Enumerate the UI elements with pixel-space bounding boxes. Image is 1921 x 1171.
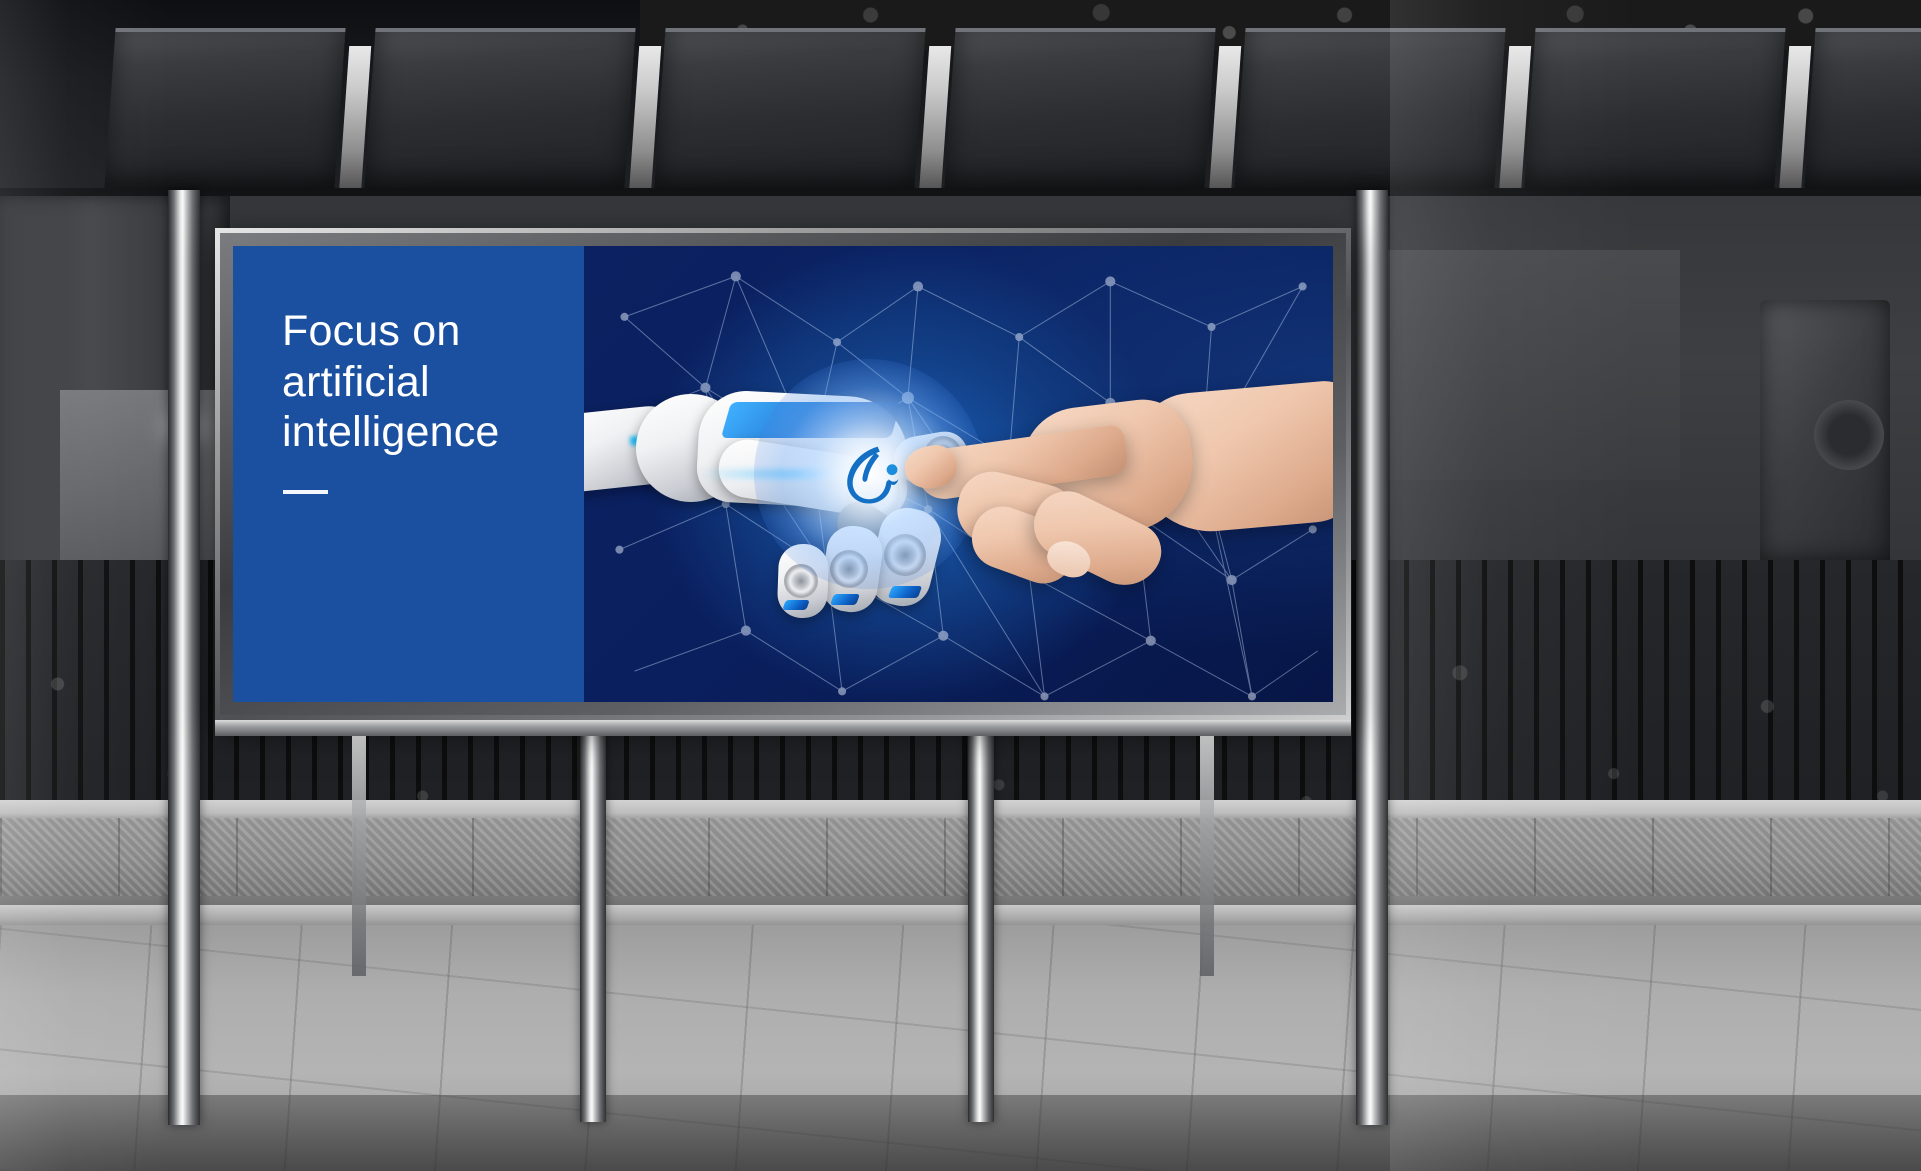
billboard-bottom-rail [215,720,1351,736]
billboard-support-left [352,736,366,976]
headline-line-1: Focus on [282,306,562,357]
canopy-slat [104,28,345,188]
canopy-slat [654,28,925,188]
canopy-slat [1524,28,1785,188]
dolphin-swoosh-icon-orb [833,438,905,510]
billboard-left-panel: Focus on artificial intelligence [233,246,584,702]
curb-edge [0,905,1921,927]
shelter-canopy [0,28,1921,203]
stone-wall [0,800,1921,910]
billboard-support-right [1200,736,1214,976]
canopy-slat [944,28,1215,188]
robot-finger-marking-3 [782,600,810,610]
canopy-slat [1234,28,1505,188]
pavement-foreground-shadow [0,1095,1921,1171]
headline-line-3: intelligence [282,407,562,458]
page-title: Focus on artificial intelligence [282,306,562,458]
background-machinery [1760,300,1890,560]
headline-divider-rule [283,490,328,494]
billboard-face: Focus on artificial intelligence [233,246,1333,702]
human-hand-graphic [903,346,1333,646]
headline-line-2: artificial [282,357,562,408]
billboard[interactable]: Focus on artificial intelligence [215,228,1351,720]
billboard-inner-frame: Focus on artificial intelligence [220,233,1346,715]
robot-finger-marking-2 [830,594,860,605]
shelter-pole-right [1356,190,1388,1125]
shelter-pole-mid [580,722,606,1122]
background-window-right [1380,250,1680,480]
shelter-pole-left [168,190,200,1125]
bus-shelter-scene: Focus on artificial intelligence [0,0,1921,1171]
shelter-pole-mid2 [968,722,994,1122]
canopy-slat [364,28,635,188]
canopy-slat [1804,28,1921,188]
billboard-right-panel [584,246,1333,702]
